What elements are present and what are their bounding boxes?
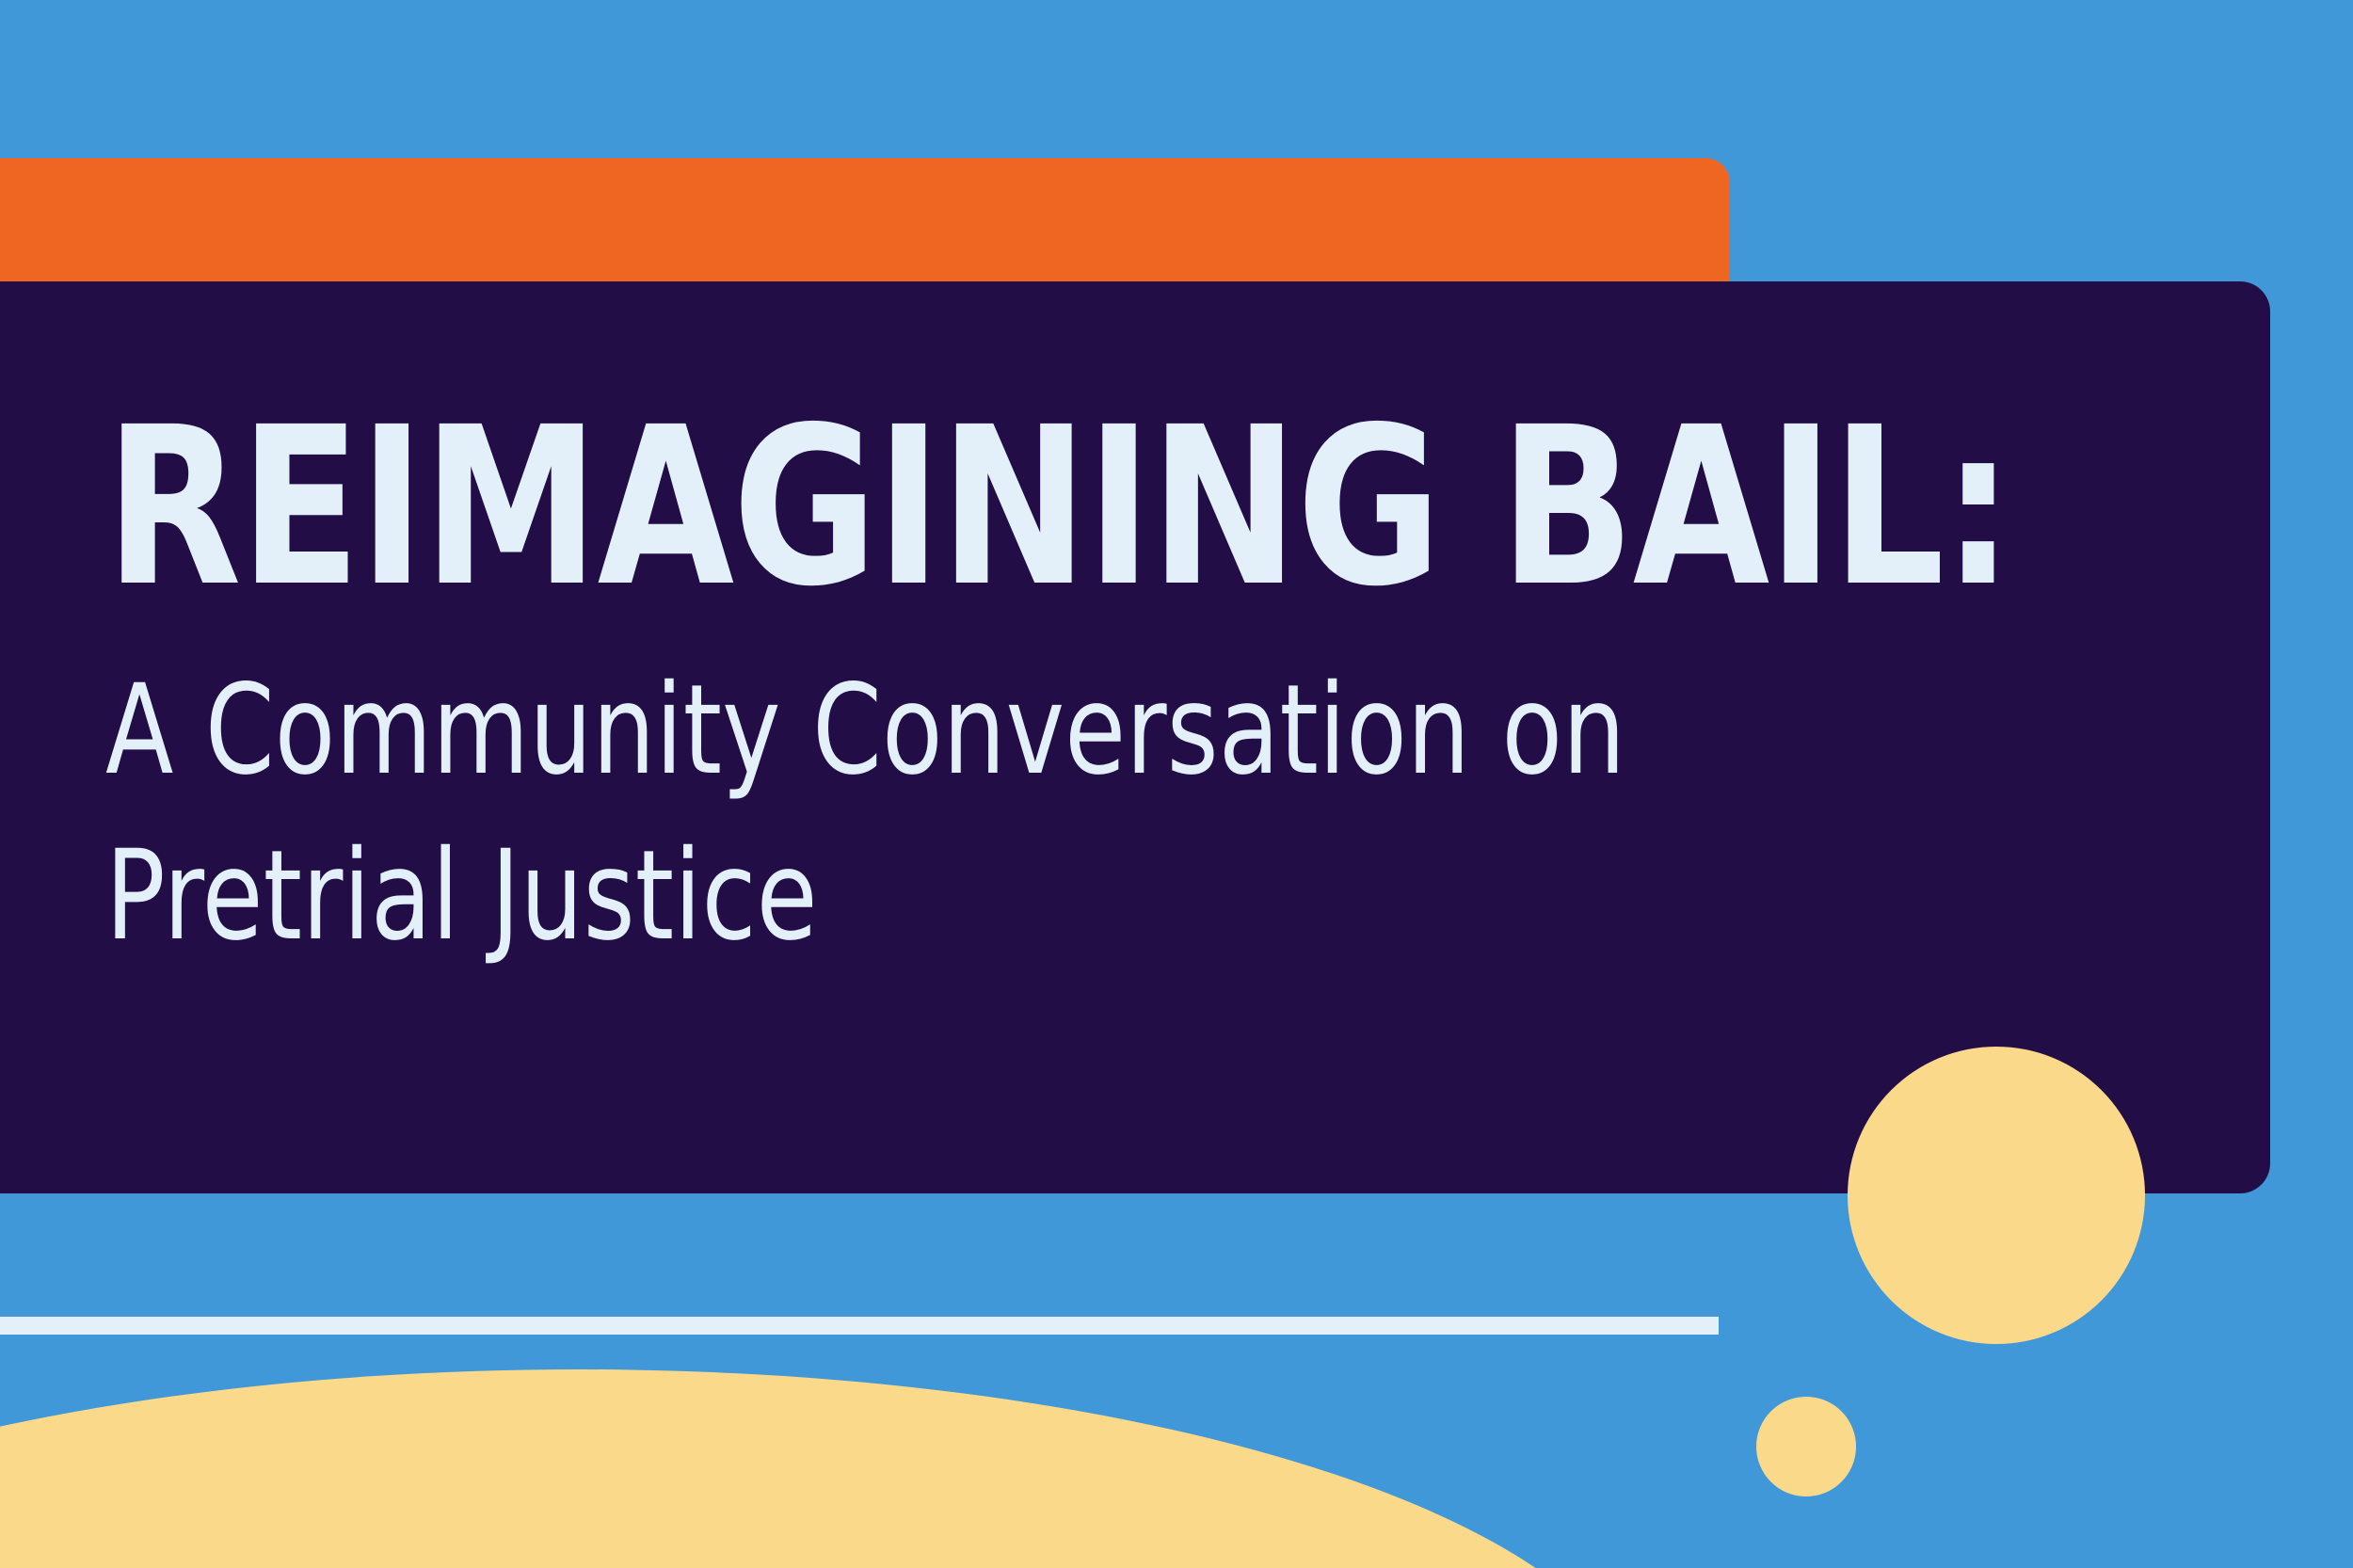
orange-accent-bar	[0, 158, 1730, 285]
page-subtitle-line-2: Pretrial Justice	[105, 814, 1625, 980]
yellow-ellipse-blob-decoration	[0, 1369, 1647, 1568]
title-panel: REIMAGINING BAIL: A Community Conversati…	[0, 281, 2270, 1193]
page-title: REIMAGINING BAIL:	[105, 423, 2012, 593]
divider-rule	[0, 1317, 1719, 1335]
yellow-circle-small-decoration	[1756, 1397, 1856, 1496]
page-subtitle: A Community Conversation on Pretrial Jus…	[105, 648, 1625, 979]
poster-canvas: REIMAGINING BAIL: A Community Conversati…	[0, 0, 2353, 1568]
yellow-circle-large-decoration	[1848, 1047, 2145, 1344]
page-subtitle-line-1: A Community Conversation on	[105, 648, 1625, 814]
